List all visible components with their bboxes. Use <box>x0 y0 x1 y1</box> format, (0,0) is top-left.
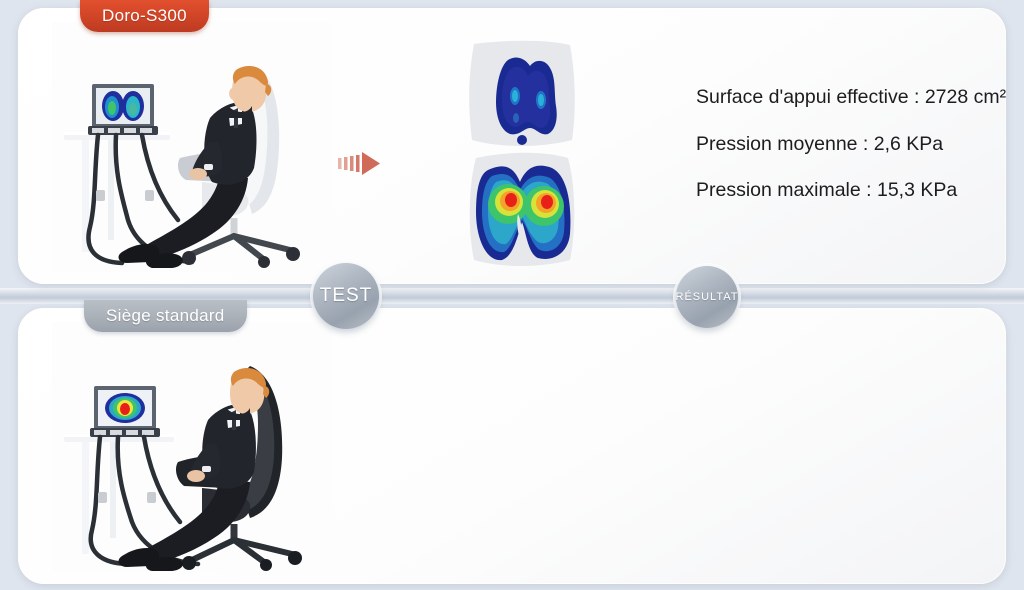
metric-mean-pressure: Pression moyenne : 2,6 KPa <box>696 135 1006 155</box>
panel-doro-s300: Surface d'appui effective : 2728 cm² Pre… <box>18 8 1006 284</box>
metric-surface: Surface d'appui effective : 2728 cm² <box>696 88 1006 108</box>
photo-siege-standard <box>52 322 332 572</box>
badge-siege-standard: Siège standard <box>84 300 247 332</box>
pressure-map-doro-s300 <box>452 36 592 276</box>
flow-step-result: RÉSULTAT <box>676 266 738 328</box>
panel-siege-standard: Surface d'appui effective : 2597 cm² Pre… <box>18 308 1006 584</box>
pressure-map-svg-top <box>452 36 592 276</box>
photo-svg-white-chair <box>52 22 332 272</box>
badge-doro-s300: Doro-S300 <box>80 0 209 32</box>
metric-max-pressure: Pression maximale : 15,3 KPa <box>696 181 1006 201</box>
flow-step-test: TEST <box>313 263 379 329</box>
photo-doro-s300 <box>52 22 332 272</box>
metrics-doro-s300: Surface d'appui effective : 2728 cm² Pre… <box>696 88 1006 201</box>
comparison-infographic: Surface d'appui effective : 2728 cm² Pre… <box>0 0 1024 590</box>
process-arrow-icon <box>336 146 392 180</box>
photo-svg-black-chair <box>52 322 332 572</box>
